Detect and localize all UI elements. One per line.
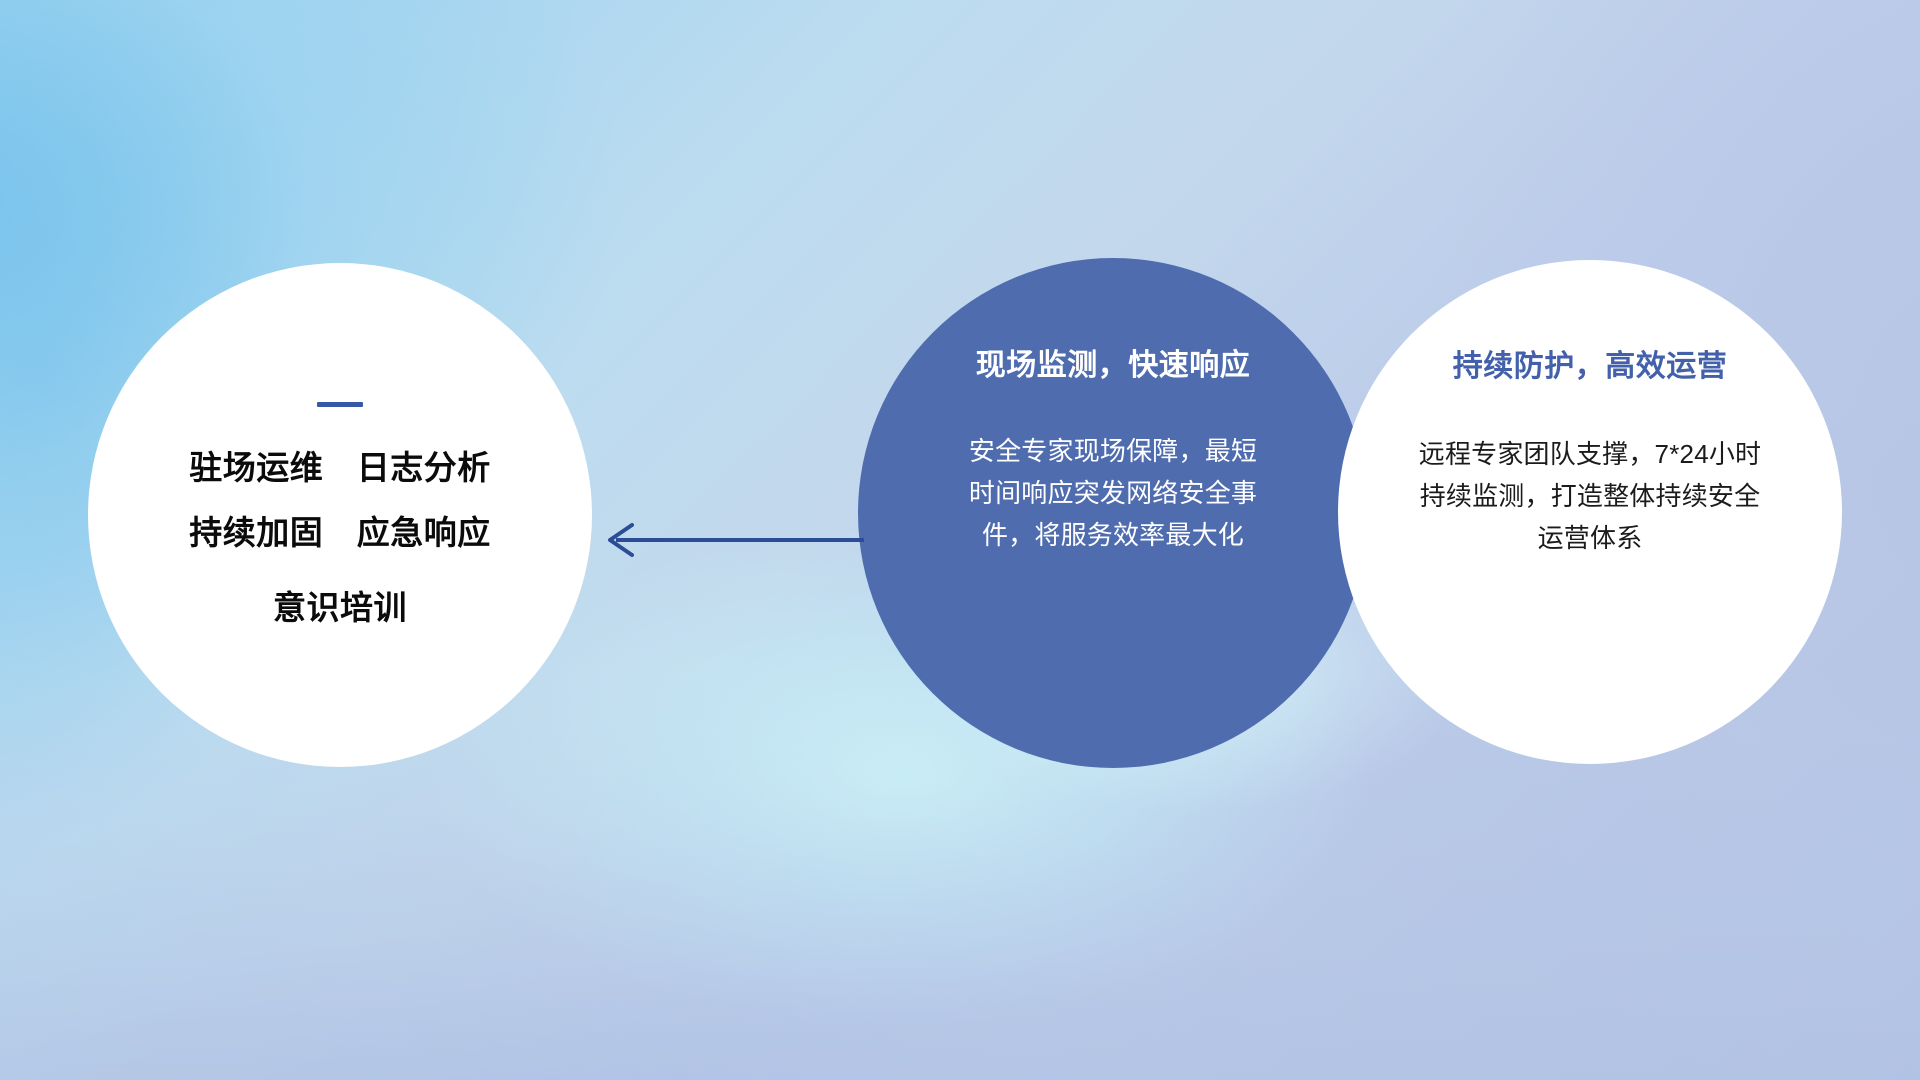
slide-canvas: 驻场运维 日志分析 持续加固 应急响应 意识培训 现场监测，快速响应 安全专家现…: [0, 0, 1920, 1080]
arrow-left-icon: [580, 505, 880, 575]
left-circle-content: 驻场运维 日志分析 持续加固 应急响应 意识培训: [88, 263, 592, 767]
middle-circle-content: 现场监测，快速响应 安全专家现场保障，最短时间响应突发网络安全事件，将服务效率最…: [858, 258, 1368, 768]
capability-line-3: 意识培训: [189, 591, 491, 624]
onsite-monitoring-body: 安全专家现场保障，最短时间响应突发网络安全事件，将服务效率最大化: [963, 430, 1263, 556]
capability-line-1: 驻场运维 日志分析: [189, 451, 491, 484]
continuous-protection-circle[interactable]: 持续防护，高效运营 远程专家团队支撑，7*24小时持续监测，打造整体持续安全运营…: [1338, 260, 1842, 764]
onsite-monitoring-circle[interactable]: 现场监测，快速响应 安全专家现场保障，最短时间响应突发网络安全事件，将服务效率最…: [858, 258, 1368, 768]
capability-line-2: 持续加固 应急响应: [189, 516, 491, 549]
continuous-protection-title: 持续防护，高效运营: [1453, 350, 1728, 383]
onsite-monitoring-title: 现场监测，快速响应: [976, 349, 1251, 382]
continuous-protection-body: 远程专家团队支撑，7*24小时持续监测，打造整体持续安全运营体系: [1415, 433, 1765, 559]
left-capability-circle[interactable]: 驻场运维 日志分析 持续加固 应急响应 意识培训: [88, 263, 592, 767]
right-circle-content: 持续防护，高效运营 远程专家团队支撑，7*24小时持续监测，打造整体持续安全运营…: [1338, 260, 1842, 764]
capability-list: 驻场运维 日志分析 持续加固 应急响应 意识培训: [189, 451, 491, 624]
divider-dash-icon: [317, 402, 363, 407]
